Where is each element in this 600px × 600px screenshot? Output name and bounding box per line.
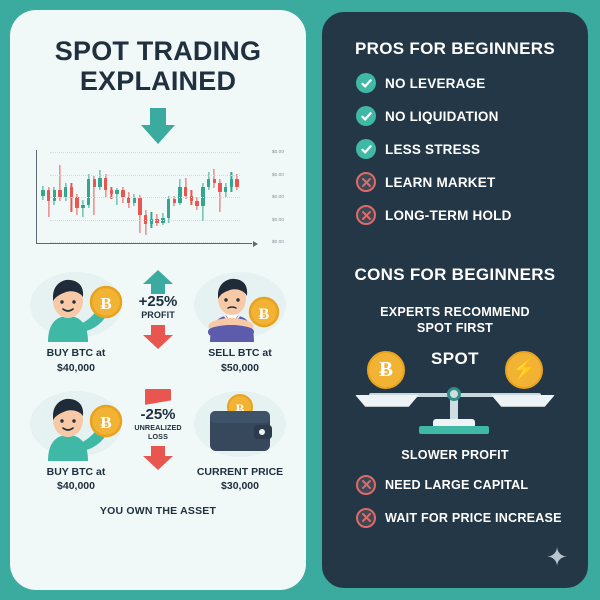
loss-percent: -25% (128, 407, 188, 423)
page-title-line1: SPOT TRADING (55, 36, 261, 66)
right-panel: PROS FOR BEGINNERS NO LEVERAGENO LIQUIDA… (320, 10, 590, 590)
bitcoin-coin-icon: Ƀ (367, 351, 405, 389)
arrow-down-icon (141, 108, 175, 144)
infographic-root: SPOT TRADING EXPLAINED $0.00$0.00$0.00$0… (0, 0, 600, 600)
chart-x-axis (36, 243, 252, 244)
wallet-with-coin-illustration: Ƀ (188, 387, 292, 461)
pros-list: NO LEVERAGENO LIQUIDATIONLESS STRESSLEAR… (322, 73, 588, 225)
scale-pivot (447, 387, 461, 401)
sell-btc-caption: SELL BTC at $50,000 (188, 346, 292, 374)
cross-circle-icon (356, 508, 376, 528)
cross-circle-icon (356, 172, 376, 192)
y-tick-label: $0.00 (272, 217, 284, 222)
list-item-label: NO LIQUIDATION (385, 109, 499, 124)
arrow-down-red-icon-2 (143, 446, 173, 470)
chart-x-axis-arrow (253, 241, 258, 247)
profit-badge: +25% PROFIT (128, 268, 188, 349)
sell-btc-label: SELL BTC at (188, 346, 292, 360)
gridline (50, 220, 240, 221)
buy-btc-loss-label: BUY BTC at (24, 465, 128, 479)
page-title: SPOT TRADING EXPLAINED (10, 10, 306, 96)
list-item: NEED LARGE CAPITAL (322, 475, 588, 495)
arrow-down-red-icon (143, 325, 173, 349)
svg-text:Ƀ: Ƀ (100, 413, 111, 432)
buy-btc-profit-block: Ƀ BUY BTC at $40,000 (24, 268, 128, 374)
check-circle-icon (356, 139, 376, 159)
profit-sublabel: PROFIT (128, 310, 188, 320)
loss-sublabel: UNREALIZED LOSS (128, 423, 188, 441)
sparkle-icon: ✦ (544, 544, 570, 570)
list-item-label: NEED LARGE CAPITAL (385, 478, 528, 492)
chart-y-axis (36, 150, 37, 244)
list-item-label: LEARN MARKET (385, 175, 495, 190)
red-flag-icon (145, 389, 171, 405)
experts-line2: SPOT FIRST (322, 320, 588, 336)
check-circle-icon (356, 106, 376, 126)
cross-circle-icon (356, 475, 376, 495)
buy-btc-profit-caption: BUY BTC at $40,000 (24, 346, 128, 374)
own-asset-footer: YOU OWN THE ASSET (10, 505, 306, 517)
y-tick-label: $0.00 (272, 194, 284, 199)
lightning-coin-icon: ⚡ (505, 351, 543, 389)
pros-heading: PROS FOR BEGINNERS (322, 39, 588, 59)
profit-percent: +25% (128, 294, 188, 310)
buy-btc-loss-block: Ƀ BUY BTC at $40,000 (24, 387, 128, 493)
check-circle-icon (356, 73, 376, 93)
sell-btc-block: Ƀ SELL BTC at $50,000 (188, 268, 292, 374)
y-tick-label: $0.00 (272, 239, 284, 244)
gridline (50, 242, 240, 243)
buy-btc-profit-label: BUY BTC at (24, 346, 128, 360)
candlestick-chart: $0.00$0.00$0.00$0.00$0.00 (26, 150, 292, 258)
buy-btc-profit-value: $40,000 (24, 361, 128, 375)
loss-comparison-row: Ƀ BUY BTC at $40,000 -25% UNREALIZED LOS… (10, 387, 306, 493)
list-item: LESS STRESS (322, 139, 588, 159)
list-item: NO LEVERAGE (322, 73, 588, 93)
list-item: NO LIQUIDATION (322, 106, 588, 126)
sell-btc-value: $50,000 (188, 361, 292, 375)
happy-person-with-coin-illustration-2: Ƀ (24, 387, 128, 461)
list-item-label: WAIT FOR PRICE INCREASE (385, 511, 562, 525)
current-price-block: Ƀ CURRENT PRICE $30,000 (188, 387, 292, 493)
current-price-caption: CURRENT PRICE $30,000 (188, 465, 292, 493)
scale-pan-left (355, 395, 419, 407)
svg-text:Ƀ: Ƀ (100, 294, 111, 313)
y-tick-label: $0.00 (272, 172, 284, 177)
list-item: LONG-TERM HOLD (322, 205, 588, 225)
experts-recommendation: EXPERTS RECOMMEND SPOT FIRST (322, 304, 588, 337)
list-item-label: SLOWER PROFIT (401, 448, 509, 462)
scale-base (419, 426, 489, 434)
experts-line1: EXPERTS RECOMMEND (322, 304, 588, 320)
arrow-up-icon (143, 270, 173, 294)
gridline (50, 175, 240, 176)
scale-pan-right (491, 395, 555, 407)
gridline (50, 197, 240, 198)
svg-text:Ƀ: Ƀ (259, 306, 270, 323)
buy-btc-loss-caption: BUY BTC at $40,000 (24, 465, 128, 493)
candlestick (41, 152, 45, 242)
list-item: SLOWER PROFIT (322, 448, 588, 462)
balance-scale-illustration: Ƀ ⚡ (355, 347, 555, 435)
buy-btc-loss-value: $40,000 (24, 479, 128, 493)
left-panel: SPOT TRADING EXPLAINED $0.00$0.00$0.00$0… (10, 10, 306, 590)
current-price-label: CURRENT PRICE (188, 465, 292, 479)
list-item: LEARN MARKET (322, 172, 588, 192)
happy-person-with-coin-illustration: Ƀ (24, 268, 128, 342)
list-item-label: LESS STRESS (385, 142, 480, 157)
profit-comparison-row: Ƀ BUY BTC at $40,000 +25% PROFIT (10, 268, 306, 374)
current-price-value: $30,000 (188, 479, 292, 493)
y-tick-label: $0.00 (272, 149, 284, 154)
page-title-line2: EXPLAINED (26, 66, 290, 96)
cons-heading: CONS FOR BEGINNERS (322, 265, 588, 285)
list-item: WAIT FOR PRICE INCREASE (322, 508, 588, 528)
loss-badge: -25% UNREALIZED LOSS (128, 387, 188, 470)
cons-list: SLOWER PROFITNEED LARGE CAPITALWAIT FOR … (322, 448, 588, 528)
gridline (50, 152, 240, 153)
cross-circle-icon (356, 205, 376, 225)
list-item-label: LONG-TERM HOLD (385, 208, 512, 223)
serious-person-with-coin-illustration: Ƀ (188, 268, 292, 342)
list-item-label: NO LEVERAGE (385, 76, 485, 91)
